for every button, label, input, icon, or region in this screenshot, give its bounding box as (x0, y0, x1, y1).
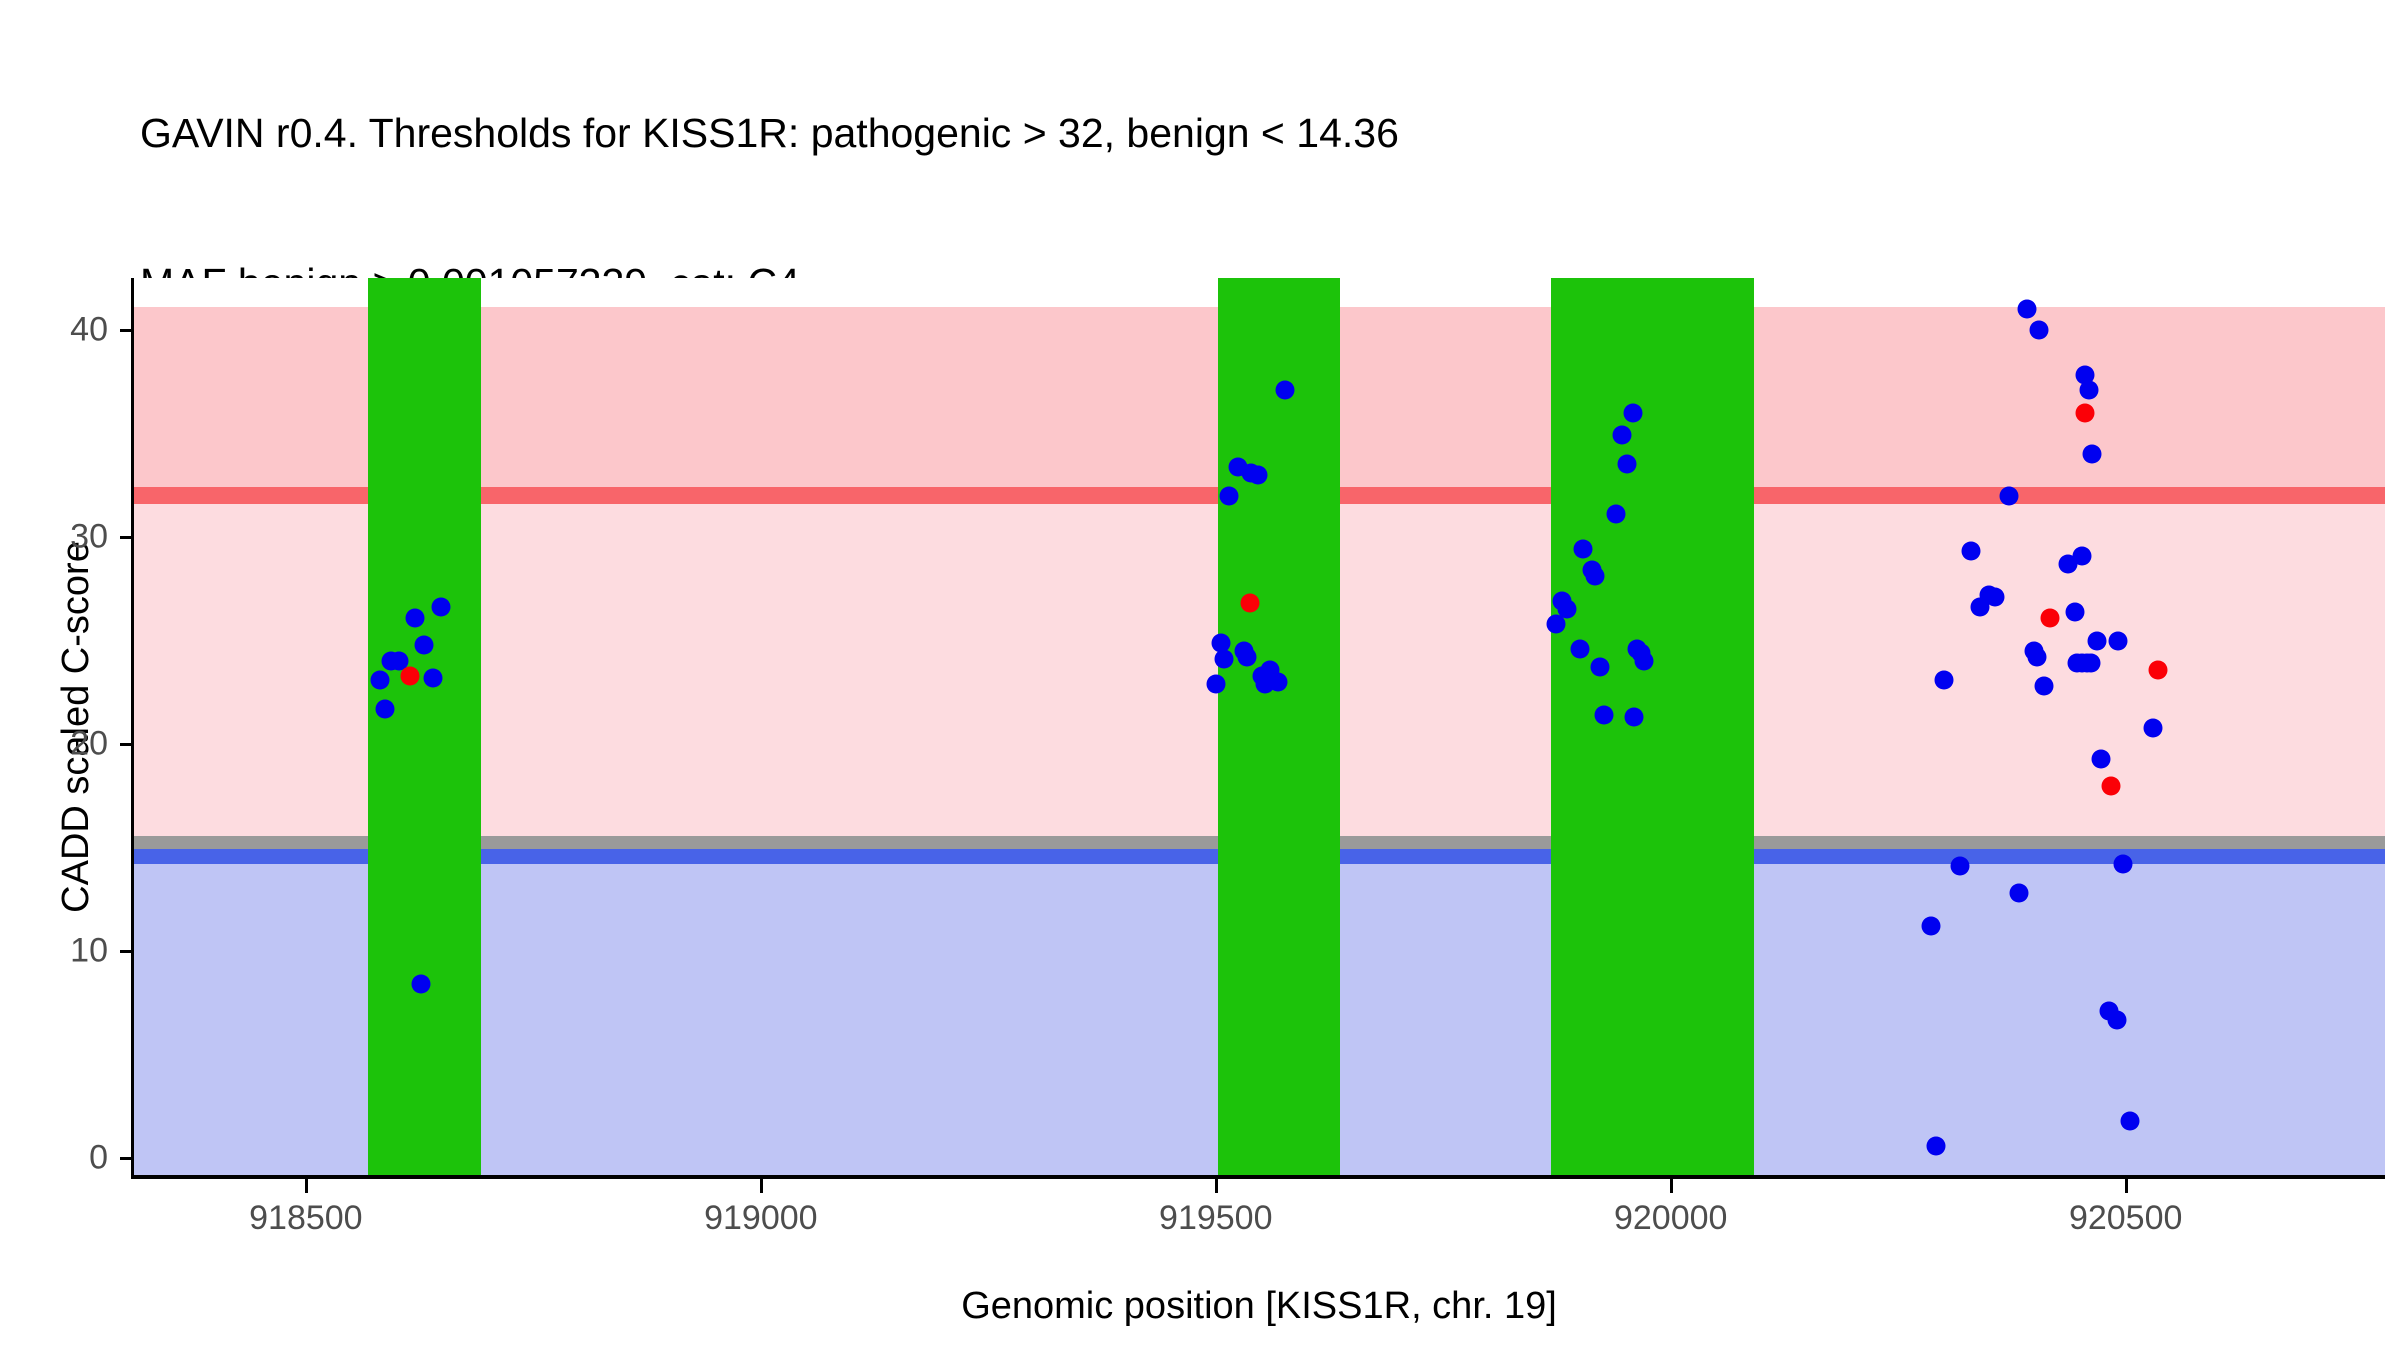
gnomad-variant-point[interactable] (1219, 486, 1238, 505)
gnomad-variant-point[interactable] (1214, 650, 1233, 669)
gnomad-variant-point[interactable] (2121, 1112, 2140, 1131)
gnomad-variant-point[interactable] (371, 670, 390, 689)
gnomad-variant-point[interactable] (2000, 486, 2019, 505)
plot-root: GAVIN r0.4. Thresholds for KISS1R: patho… (0, 0, 2400, 1350)
gnomad-variant-point[interactable] (1612, 426, 1631, 445)
gnomad-variant-point[interactable] (2065, 602, 2084, 621)
x-axis-title: Genomic position [KISS1R, chr. 19] (133, 1285, 2385, 1328)
y-axis-tick (120, 1157, 133, 1160)
y-axis-tick-label: 30 (0, 517, 108, 556)
clinvar-pathogenic-point[interactable] (2149, 660, 2168, 679)
gnomad-variant-point[interactable] (1625, 708, 1644, 727)
gnomad-variant-point[interactable] (1921, 917, 1940, 936)
x-axis-tick (2125, 1179, 2128, 1193)
gnomad-variant-point[interactable] (1623, 403, 1642, 422)
gnomad-variant-point[interactable] (1248, 465, 1267, 484)
x-axis-tick-label: 920000 (1614, 1199, 1727, 1238)
gnomad-variant-point[interactable] (1618, 455, 1637, 474)
y-axis-tick (120, 329, 133, 332)
gnomad-variant-point[interactable] (1961, 542, 1980, 561)
y-axis-tick-label: 0 (0, 1139, 108, 1178)
exon-2 (1218, 278, 1341, 1175)
gnomad-variant-point[interactable] (415, 635, 434, 654)
clinvar-pathogenic-point[interactable] (2041, 608, 2060, 627)
x-axis-tick (760, 1179, 763, 1193)
gnomad-variant-point[interactable] (1926, 1136, 1945, 1155)
gnomad-variant-point[interactable] (1558, 600, 1577, 619)
gnomad-variant-point[interactable] (1275, 380, 1294, 399)
clinvar-pathogenic-point[interactable] (400, 666, 419, 685)
y-axis-tick (120, 950, 133, 953)
gnomad-variant-point[interactable] (1237, 648, 1256, 667)
gnomad-variant-point[interactable] (1607, 505, 1626, 524)
gnomad-variant-point[interactable] (1586, 567, 1605, 586)
y-axis-tick-label: 10 (0, 932, 108, 971)
gnomad-variant-point[interactable] (2030, 320, 2049, 339)
gnomad-variant-point[interactable] (424, 668, 443, 687)
x-axis-tick-label: 919000 (704, 1199, 817, 1238)
gnomad-variant-point[interactable] (1268, 672, 1287, 691)
gnomad-variant-point[interactable] (2087, 631, 2106, 650)
gnomad-variant-point[interactable] (1206, 675, 1225, 694)
x-axis-tick-label: 920500 (2069, 1199, 2182, 1238)
gnomad-variant-point[interactable] (1985, 588, 2004, 607)
x-axis-tick (1215, 1179, 1218, 1193)
gnomad-variant-point[interactable] (2113, 855, 2132, 874)
gnomad-variant-point[interactable] (2092, 749, 2111, 768)
y-axis-tick (120, 743, 133, 746)
gnomad-variant-point[interactable] (2143, 718, 2162, 737)
gnomad-variant-point[interactable] (376, 699, 395, 718)
gnomad-variant-point[interactable] (2107, 1010, 2126, 1029)
clinvar-pathogenic-point[interactable] (2102, 776, 2121, 795)
gnomad-variant-point[interactable] (2080, 380, 2099, 399)
y-axis-tick-label: 40 (0, 310, 108, 349)
plot-panel (133, 278, 2385, 1175)
gnomad-variant-point[interactable] (406, 608, 425, 627)
gnomad-variant-point[interactable] (2018, 300, 2037, 319)
x-axis-tick (305, 1179, 308, 1193)
gnomad-variant-point[interactable] (1590, 658, 1609, 677)
gnomad-variant-point[interactable] (2073, 546, 2092, 565)
gnomad-variant-point[interactable] (2082, 654, 2101, 673)
x-axis-line (131, 1175, 2385, 1179)
gnomad-variant-point[interactable] (1635, 652, 1654, 671)
y-axis-line (131, 278, 134, 1178)
gnomad-variant-point[interactable] (1951, 857, 1970, 876)
exon-1 (368, 278, 481, 1175)
y-axis-tick (120, 536, 133, 539)
gnomad-variant-point[interactable] (1595, 706, 1614, 725)
gnomad-variant-point[interactable] (1934, 670, 1953, 689)
gnomad-variant-point[interactable] (1574, 540, 1593, 559)
exon-3 (1551, 278, 1755, 1175)
title-line-1: GAVIN r0.4. Thresholds for KISS1R: patho… (140, 108, 1445, 158)
gnomad-variant-point[interactable] (2028, 648, 2047, 667)
gnomad-variant-point[interactable] (2083, 445, 2102, 464)
clinvar-pathogenic-point[interactable] (2075, 403, 2094, 422)
gnomad-variant-point[interactable] (2034, 677, 2053, 696)
x-axis-tick-label: 919500 (1159, 1199, 1272, 1238)
gnomad-variant-point[interactable] (1570, 639, 1589, 658)
gnomad-variant-point[interactable] (431, 598, 450, 617)
x-axis-tick-label: 918500 (249, 1199, 362, 1238)
y-axis-tick-label: 20 (0, 725, 108, 764)
gnomad-variant-point[interactable] (412, 975, 431, 994)
gnomad-variant-point[interactable] (2109, 631, 2128, 650)
x-axis-tick (1670, 1179, 1673, 1193)
gnomad-variant-point[interactable] (2010, 884, 2029, 903)
clinvar-pathogenic-point[interactable] (1241, 594, 1260, 613)
